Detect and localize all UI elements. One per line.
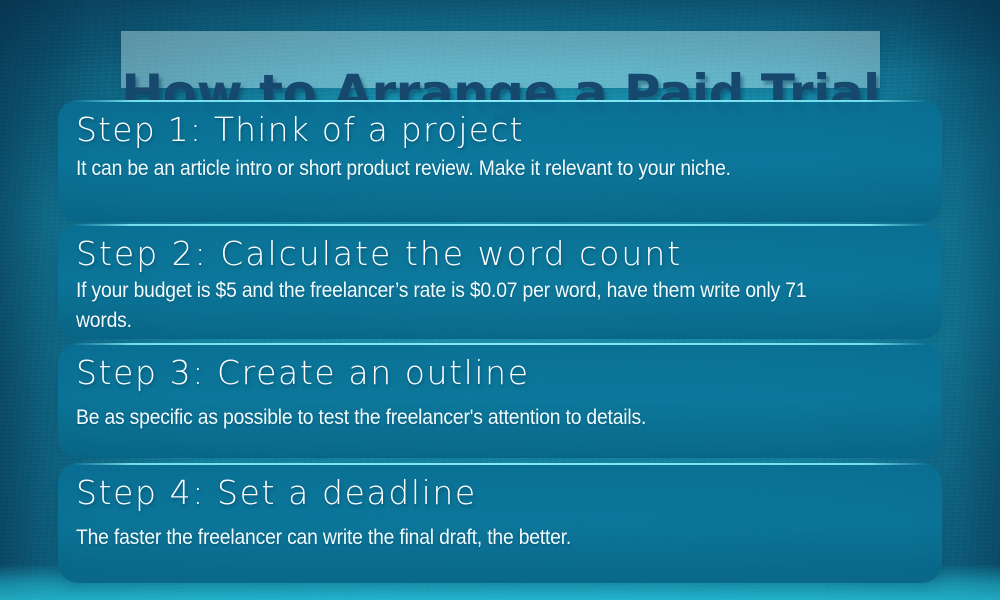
step-card-4: Step 4: Set a deadline The faster the fr…: [58, 463, 942, 583]
step-1-heading: Step 1: Think of a project: [76, 108, 924, 152]
step-2-body: If your budget is $5 and the freelancer’…: [76, 276, 856, 336]
steps-list: Step 1: Think of a project It can be an …: [58, 100, 942, 583]
step-card-2: Step 2: Calculate the word count If your…: [58, 224, 942, 339]
step-3-heading: Step 3: Create an outline: [76, 351, 924, 395]
step-2-heading: Step 2: Calculate the word count: [76, 232, 924, 276]
step-4-body: The faster the freelancer can write the …: [76, 523, 856, 553]
poster-canvas: How to Arrange a Paid Trial Step 1: Thin…: [0, 0, 1000, 600]
step-4-heading: Step 4: Set a deadline: [76, 471, 924, 515]
step-3-body: Be as specific as possible to test the f…: [76, 403, 856, 433]
step-1-body: It can be an article intro or short prod…: [76, 154, 856, 184]
step-card-1: Step 1: Think of a project It can be an …: [58, 100, 942, 222]
step-card-3: Step 3: Create an outline Be as specific…: [58, 343, 942, 458]
